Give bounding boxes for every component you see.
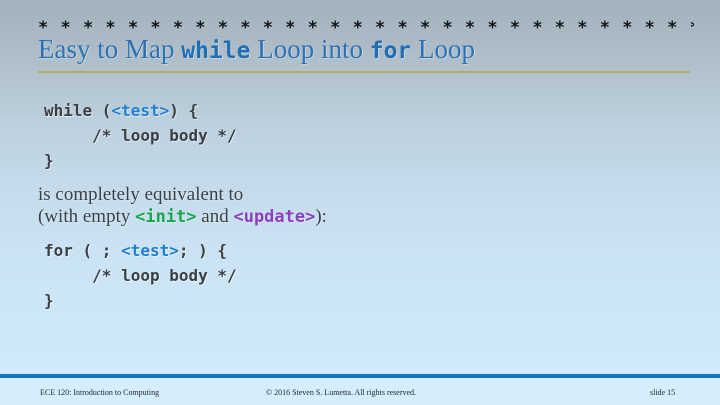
title-divider-line — [38, 71, 690, 73]
title-text-part2: Loop into — [250, 34, 369, 64]
title-text-part1: Easy to Map — [38, 34, 181, 64]
prose-equivalence-line: is completely equivalent to — [38, 183, 243, 206]
footer-copyright-label: © 2016 Steven S. Lumetta. All rights res… — [266, 387, 416, 398]
code-while-line1-prefix: while ( — [44, 101, 111, 120]
code-while-line3-brace: } — [44, 151, 54, 170]
code-for-line1-prefix: for ( ; — [44, 241, 121, 260]
code-while-line2-body: /* loop body */ — [44, 126, 237, 145]
prose-placeholder-init: <init> — [135, 207, 196, 227]
prose-line2-middle: and — [197, 206, 234, 227]
footer-course-label: ECE 120: Introduction to Computing — [40, 387, 159, 398]
title-keyword-while: while — [181, 38, 250, 64]
footer-slide-number: slide 15 — [650, 387, 675, 398]
code-while-placeholder-test: <test> — [111, 101, 169, 120]
title-keyword-for: for — [370, 38, 412, 64]
title-text-part3: Loop — [411, 34, 475, 64]
code-block-for-loop: for ( ; <test>; ) { /* loop body */ } — [44, 238, 237, 313]
prose-line2-prefix: (with empty — [38, 206, 135, 227]
slide-canvas: * * * * * * * * * * * * * * * * * * * * … — [0, 0, 720, 405]
code-for-line2-body: /* loop body */ — [44, 266, 237, 285]
code-for-line1-suffix: ; ) { — [179, 241, 227, 260]
prose-line2-suffix: ): — [315, 206, 327, 227]
prose-placeholder-update: <update> — [233, 207, 315, 227]
slide-title: Easy to Map while Loop into for Loop — [38, 33, 698, 65]
code-while-line1-suffix: ) { — [169, 101, 198, 120]
code-for-placeholder-test: <test> — [121, 241, 179, 260]
code-for-line3-brace: } — [44, 291, 54, 310]
code-block-while-loop: while (<test>) { /* loop body */ } — [44, 98, 237, 173]
prose-empty-clauses-line: (with empty <init> and <update>): — [38, 205, 327, 229]
